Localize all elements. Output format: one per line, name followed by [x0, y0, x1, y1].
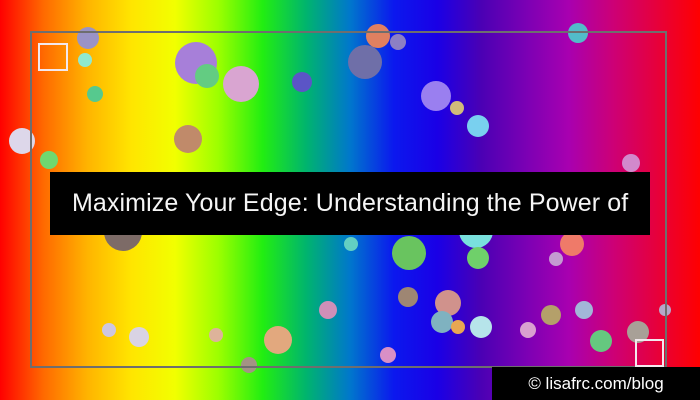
banner-image: Maximize Your Edge: Understanding the Po… — [0, 0, 700, 400]
mini-rect-bottom-right — [635, 339, 664, 367]
headline-banner: Maximize Your Edge: Understanding the Po… — [50, 172, 650, 235]
watermark-banner: © lisafrc.com/blog — [492, 367, 700, 400]
mini-rect-top-left — [38, 43, 68, 71]
watermark-text: © lisafrc.com/blog — [528, 374, 663, 394]
headline-text: Maximize Your Edge: Understanding the Po… — [50, 189, 628, 218]
